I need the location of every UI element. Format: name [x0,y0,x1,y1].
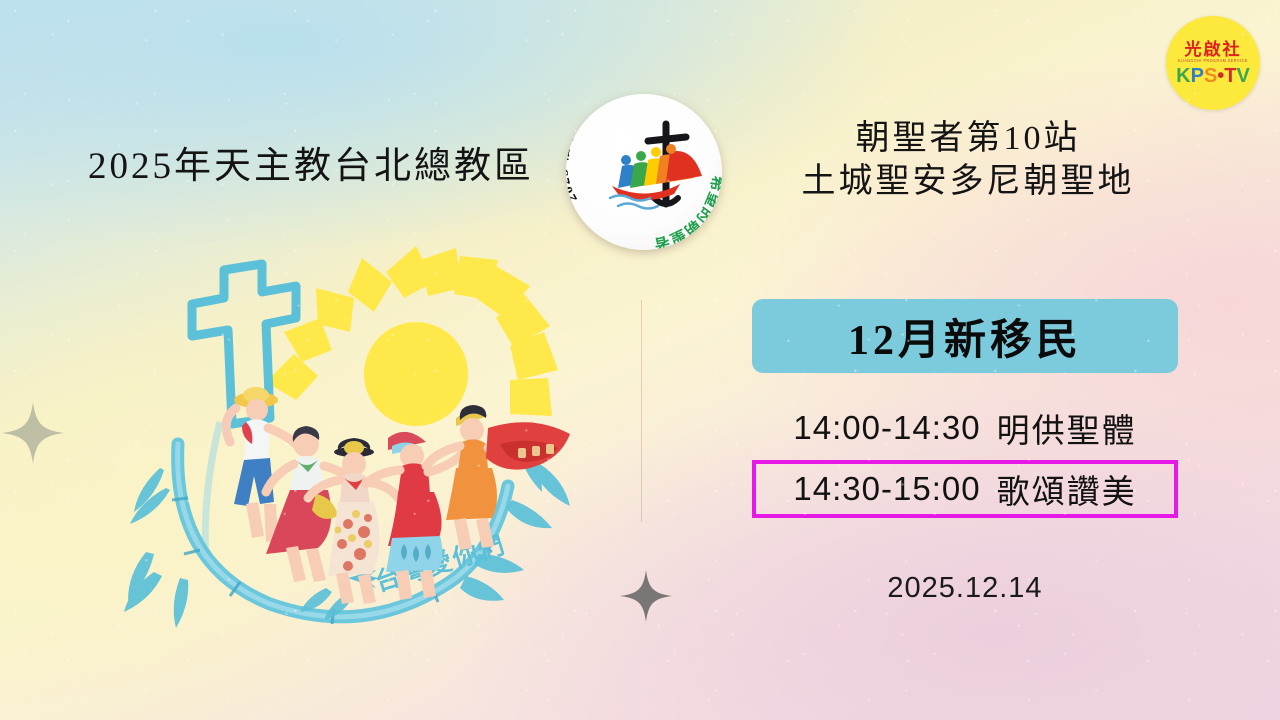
kps-english-name: KPS•TV [1176,65,1250,87]
jubilee-emblem-icon: 2025 禧年 希望的朝聖者 [566,94,722,250]
schedule-time-2: 14:30-15:00 [793,470,980,508]
kps-chinese-name: 光啟社 [1185,40,1242,59]
station-line-1: 朝聖者第10站 [748,118,1188,160]
svg-text:2025 禧年: 2025 禧年 [566,127,581,204]
schedule-list: 14:00-14:30 明供聖體 14:30-15:00 歌頌讚美 [752,402,1178,518]
artwork-illustration: 台灣愛你們 [120,232,580,632]
page-title: 2025年天主教台北總教區 [88,135,558,189]
schedule-time-1: 14:00-14:30 [793,409,980,447]
schedule-desc-1: 明供聖體 [997,404,1137,452]
poster-canvas: 2025年天主教台北總教區 [0,0,1280,720]
taiwan-pilgrimage-artwork: 台灣愛你們 [120,232,580,632]
station-heading: 朝聖者第10站 土城聖安多尼朝聖地 [748,118,1188,204]
schedule-row-2-highlighted: 14:30-15:00 歌頌讚美 [752,460,1178,518]
badge-bottom-text: 希望的朝聖者 [652,175,722,250]
station-line-2: 土城聖安多尼朝聖地 [748,160,1188,204]
sparkle-bottom-center-icon [618,568,674,624]
schedule-desc-2: 歌頌讚美 [997,465,1137,513]
kps-tv-logo: 光啟社 KUANGCHI PROGRAM SERVICE KPS•TV [1166,16,1260,110]
month-banner: 12月新移民 [752,299,1178,373]
svg-text:希望的朝聖者: 希望的朝聖者 [652,175,722,250]
jubilee-2025-badge: 2025 禧年 希望的朝聖者 [566,94,722,250]
month-banner-label: 12月新移民 [848,306,1082,367]
badge-top-text: 2025 禧年 [566,127,581,204]
sparkle-left-icon [0,400,66,466]
vertical-divider [641,300,642,522]
schedule-row-1: 14:00-14:30 明供聖體 [752,402,1178,454]
sun-core-icon [364,322,468,426]
event-date: 2025.12.14 [752,572,1178,605]
kps-subtitle: KUANGCHI PROGRAM SERVICE [1178,58,1248,64]
